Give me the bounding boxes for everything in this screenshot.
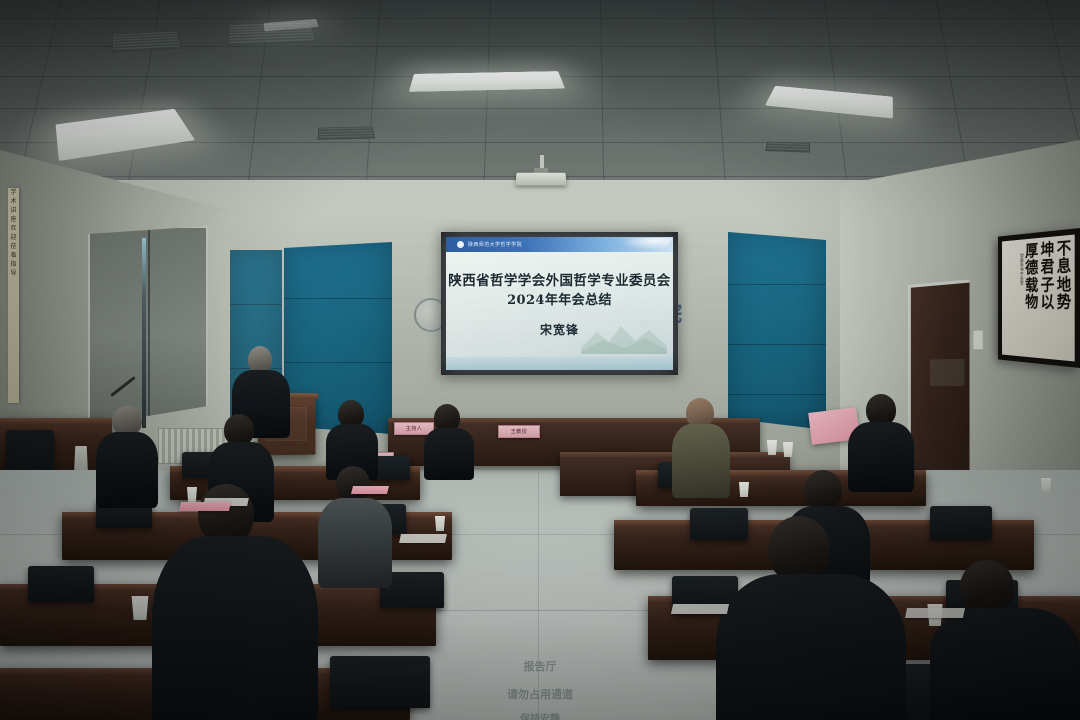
chair [930, 506, 992, 540]
slide-subtitle: 2024年年会总结 [446, 289, 673, 308]
slide-header-band: 陕西师范大学哲学学院 [446, 237, 673, 252]
person-torso [318, 498, 392, 588]
slide-title: 陕西省哲学学会外国哲学专业委员会 [446, 269, 673, 289]
window-mullion [148, 228, 150, 424]
slide-footer-band [446, 357, 673, 370]
av-cable-pole [142, 238, 146, 428]
hvac-vent [317, 127, 375, 140]
pink-handout [351, 486, 389, 494]
handout-paper [905, 608, 965, 618]
person-torso [96, 432, 158, 508]
conference-room-scene: 陕 会 院 ity 陕西师范大学哲学学院 陕西省哲学学会外国哲学专业委员会 20… [0, 0, 1080, 720]
acoustic-panel-right [728, 232, 826, 430]
slide-swoosh-decoration [612, 238, 671, 251]
door-window-panel [930, 359, 964, 386]
person-head [804, 470, 842, 510]
hvac-vent [765, 142, 810, 153]
name-placard: 王教授 [498, 425, 540, 438]
calligraphy-frame: 不息地势 坤君子以 厚德载物 甲辰年书于长安 [998, 228, 1080, 368]
calligraphy-paper: 不息地势 坤君子以 厚德载物 甲辰年书于长安 [1002, 235, 1075, 362]
calligraphy-column-3: 厚德载物 [1025, 243, 1038, 354]
projection-screen: 陕西师范大学哲学学院 陕西省哲学学会外国哲学专业委员会 2024年年会总结 宋宽… [441, 232, 678, 375]
vertical-banner: 学术讲 座欢迎 莅临指 导 [8, 188, 19, 403]
person-head [960, 560, 1014, 614]
person-torso [424, 428, 474, 480]
name-placard-label: 王教授 [511, 428, 528, 435]
projection-screen-surface: 陕西师范大学哲学学院 陕西省哲学学会外国哲学专业委员会 2024年年会总结 宋宽… [446, 237, 673, 370]
ceiling-projector [516, 173, 567, 186]
university-logo-badge [456, 240, 465, 249]
calligraphy-column-1: 不息地势 [1057, 240, 1071, 356]
pink-handout [179, 502, 231, 511]
person-torso [848, 422, 914, 492]
handout-paper [671, 604, 729, 614]
light-switch-plate[interactable] [973, 330, 984, 350]
person-head [198, 484, 254, 544]
control-booth-window [88, 226, 208, 426]
calligraphy-artwork: 不息地势 坤君子以 厚德载物 甲辰年书于长安 [998, 228, 1080, 368]
person-torso [716, 574, 906, 720]
person-torso [930, 608, 1080, 720]
person-torso [152, 536, 318, 720]
person-torso [672, 424, 730, 498]
university-logo-text: 陕西师范大学哲学学院 [468, 241, 522, 248]
person-head [768, 516, 830, 582]
chair [690, 508, 748, 540]
calligraphy-column-2: 坤君子以 [1041, 241, 1055, 354]
name-placard-label: 主持人 [406, 425, 423, 432]
chair [330, 656, 430, 708]
hvac-vent [111, 31, 182, 52]
slide-landscape-graphic [581, 314, 667, 354]
calligraphy-signature: 甲辰年书于长安 [1019, 253, 1023, 285]
person-head [336, 466, 370, 502]
university-logo: 陕西师范大学哲学学院 [456, 240, 522, 249]
ceiling-light [409, 71, 565, 92]
meeting-room-door[interactable] [908, 279, 970, 490]
chair [28, 566, 94, 602]
handout-paper [399, 534, 447, 543]
